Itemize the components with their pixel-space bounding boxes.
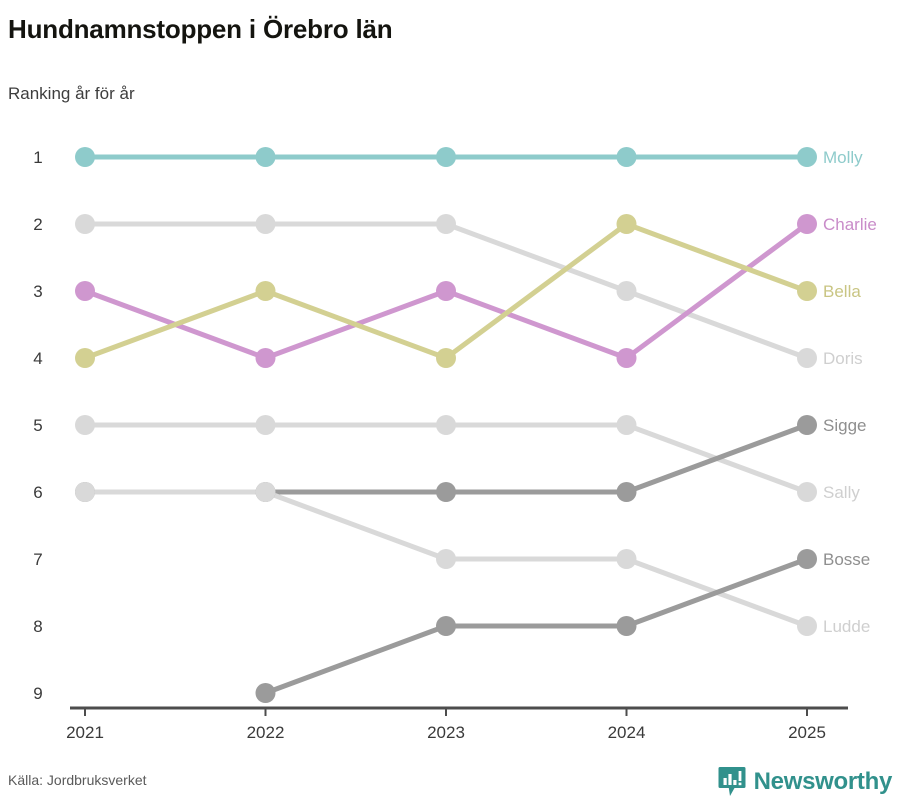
series-label-ludde: Ludde	[823, 617, 870, 636]
data-point[interactable]	[436, 147, 456, 167]
data-point[interactable]	[436, 482, 456, 502]
series-label-doris: Doris	[823, 349, 863, 368]
data-point[interactable]	[797, 348, 817, 368]
y-axis-tick-label: 9	[33, 684, 42, 703]
data-point[interactable]	[75, 415, 95, 435]
series-label-charlie: Charlie	[823, 215, 877, 234]
series-sigge	[85, 425, 810, 492]
data-point[interactable]	[617, 616, 637, 636]
series-bosse	[266, 559, 811, 693]
series-label-bella: Bella	[823, 282, 861, 301]
data-point[interactable]	[75, 348, 95, 368]
x-axis-tick-label: 2025	[788, 723, 826, 742]
data-point[interactable]	[617, 549, 637, 569]
y-axis-tick-label: 3	[33, 282, 42, 301]
x-axis-tick-label: 2023	[427, 723, 465, 742]
y-axis-tick-label: 5	[33, 416, 42, 435]
data-point[interactable]	[617, 482, 637, 502]
series-line	[85, 425, 807, 492]
bump-chart-plot: 123456789MollyDorisCharlieBellaSallySigg…	[0, 0, 900, 800]
x-axis-tick-label: 2021	[66, 723, 104, 742]
data-point[interactable]	[797, 214, 817, 234]
series-label-sally: Sally	[823, 483, 860, 502]
data-point[interactable]	[617, 348, 637, 368]
series-label-sigge: Sigge	[823, 416, 866, 435]
x-axis-tick-label: 2022	[247, 723, 285, 742]
newsworthy-brand: Newsworthy	[718, 766, 892, 798]
data-point[interactable]	[797, 147, 817, 167]
chart-page: Hundnamnstoppen i Örebro län Ranking år …	[0, 0, 900, 800]
y-axis-tick-label: 6	[33, 483, 42, 502]
data-point[interactable]	[256, 348, 276, 368]
data-point[interactable]	[256, 147, 276, 167]
series-label-molly: Molly	[823, 148, 863, 167]
data-point[interactable]	[75, 147, 95, 167]
y-axis-tick-label: 1	[33, 148, 42, 167]
series-line	[85, 425, 807, 492]
data-point[interactable]	[797, 616, 817, 636]
newsworthy-bar-chart-bubble-icon	[718, 766, 746, 798]
series-line	[266, 559, 808, 693]
data-point[interactable]	[256, 214, 276, 234]
data-point[interactable]	[436, 549, 456, 569]
brand-label: Newsworthy	[754, 768, 892, 796]
data-point[interactable]	[75, 214, 95, 234]
data-point[interactable]	[617, 147, 637, 167]
data-point[interactable]	[797, 281, 817, 301]
data-point[interactable]	[617, 281, 637, 301]
data-point[interactable]	[797, 415, 817, 435]
data-point[interactable]	[256, 683, 276, 703]
y-axis-tick-label: 7	[33, 550, 42, 569]
source-note: Källa: Jordbruksverket	[8, 772, 147, 788]
data-point[interactable]	[75, 281, 95, 301]
data-point[interactable]	[436, 348, 456, 368]
data-point[interactable]	[436, 616, 456, 636]
data-point[interactable]	[256, 415, 276, 435]
series-sally	[85, 425, 810, 492]
data-point[interactable]	[617, 214, 637, 234]
x-axis-tick-label: 2024	[608, 723, 646, 742]
data-point[interactable]	[436, 281, 456, 301]
data-point[interactable]	[436, 214, 456, 234]
y-axis-tick-label: 4	[33, 349, 42, 368]
data-point[interactable]	[617, 415, 637, 435]
data-point[interactable]	[75, 482, 95, 502]
data-point[interactable]	[256, 281, 276, 301]
series-label-bosse: Bosse	[823, 550, 870, 569]
data-point[interactable]	[256, 482, 276, 502]
data-point[interactable]	[797, 482, 817, 502]
data-point[interactable]	[797, 549, 817, 569]
y-axis-tick-label: 2	[33, 215, 42, 234]
data-point[interactable]	[436, 415, 456, 435]
y-axis-tick-label: 8	[33, 617, 42, 636]
